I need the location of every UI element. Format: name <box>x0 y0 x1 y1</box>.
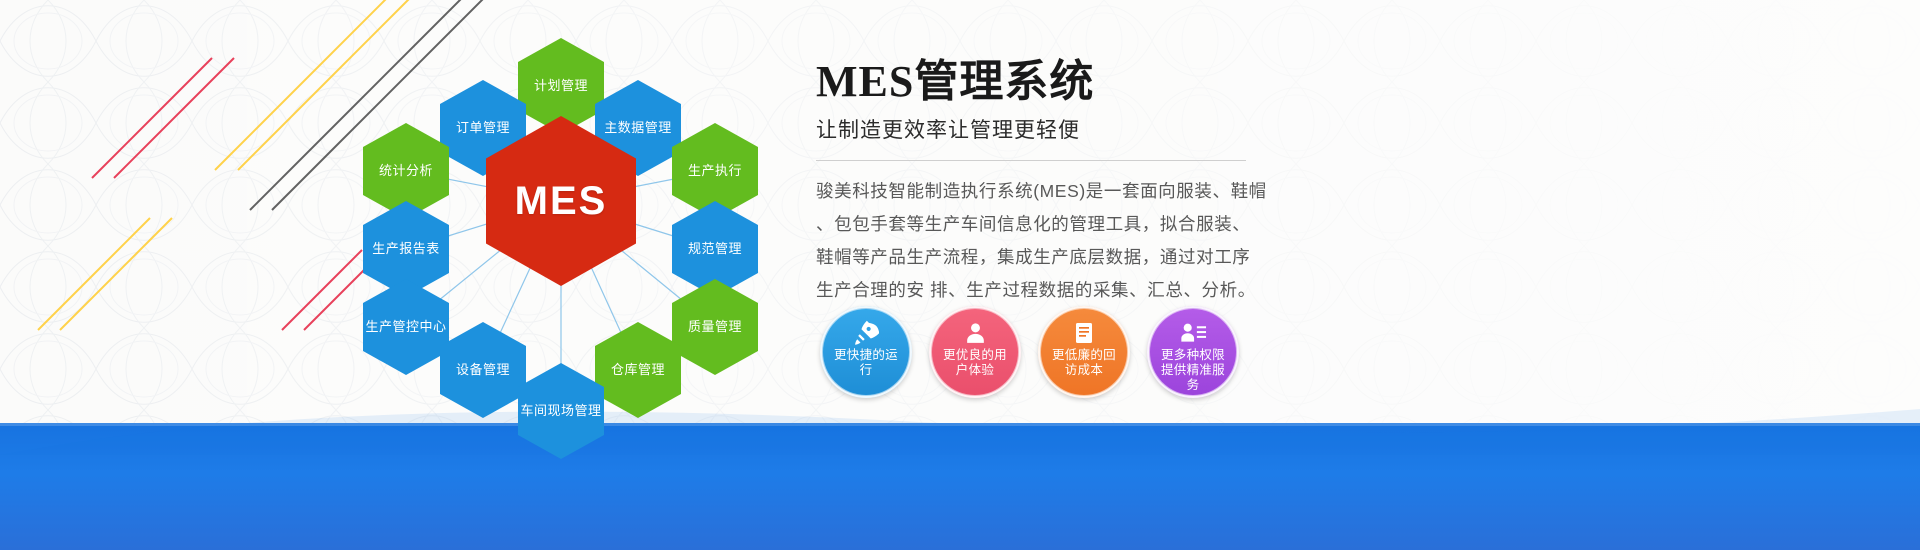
hex-label: 统计分析 <box>379 163 433 179</box>
page-title: MES管理系统 <box>816 56 1516 108</box>
hex-label: 主数据管理 <box>604 120 672 136</box>
document-icon <box>1072 320 1096 346</box>
hex-label: 设备管理 <box>456 362 510 378</box>
rocket-icon <box>853 320 879 346</box>
mes-hex-diagram: 计划管理订单管理主数据管理统计分析生产执行生产报告表规范管理生产管控中心质量管理… <box>330 18 790 438</box>
hex-label: 生产管控中心 <box>365 319 446 335</box>
badge-label: 更快捷的运行 <box>823 348 909 378</box>
hex-label: 质量管理 <box>688 319 742 335</box>
badge-faster-operation[interactable]: 更快捷的运行 <box>820 306 912 398</box>
badge-label: 更低廉的回访成本 <box>1041 348 1127 378</box>
description-line: 生产合理的安 排、生产过程数据的采集、汇总、分析。 <box>816 274 1271 307</box>
page-subtitle: 让制造更效率让管理更轻便 <box>816 114 1516 144</box>
description-line: 鞋帽等产品生产流程，集成生产底层数据，通过对工序 <box>816 241 1271 274</box>
badge-label: 更多种权限提供精准服务 <box>1150 348 1236 393</box>
bottom-blue-band <box>0 423 1920 550</box>
badge-better-user-experience[interactable]: 更优良的用户体验 <box>929 306 1021 398</box>
hex-label: 订单管理 <box>456 120 510 136</box>
hero-text-column: MES管理系统 让制造更效率让管理更轻便 骏美科技智能制造执行系统(MES)是一… <box>816 56 1516 307</box>
badge-lower-revisit-cost[interactable]: 更低廉的回访成本 <box>1038 306 1130 398</box>
hex-label: 生产报告表 <box>372 241 440 257</box>
badge-multiple-permissions[interactable]: 更多种权限提供精准服务 <box>1147 306 1239 398</box>
description-line: 骏美科技智能制造执行系统(MES)是一套面向服装、鞋帽 <box>816 175 1271 208</box>
mes-hero-banner: 计划管理订单管理主数据管理统计分析生产执行生产报告表规范管理生产管控中心质量管理… <box>0 0 1920 550</box>
user-icon <box>963 320 988 346</box>
title-divider <box>816 160 1246 161</box>
hex-label: 仓库管理 <box>611 362 665 378</box>
hex-label: 计划管理 <box>534 78 588 94</box>
hex-label: 规范管理 <box>688 241 742 257</box>
description-paragraph: 骏美科技智能制造执行系统(MES)是一套面向服装、鞋帽 、包包手套等生产车间信息… <box>816 175 1271 307</box>
permissions-icon <box>1180 320 1207 346</box>
badge-label: 更优良的用户体验 <box>932 348 1018 378</box>
description-line: 、包包手套等生产车间信息化的管理工具，拟合服装、 <box>816 208 1271 241</box>
hex-label: 车间现场管理 <box>520 403 601 419</box>
hex-label: 生产执行 <box>688 163 742 179</box>
feature-badge-group: 更快捷的运行更优良的用户体验更低廉的回访成本更多种权限提供精准服务 <box>820 306 1239 398</box>
